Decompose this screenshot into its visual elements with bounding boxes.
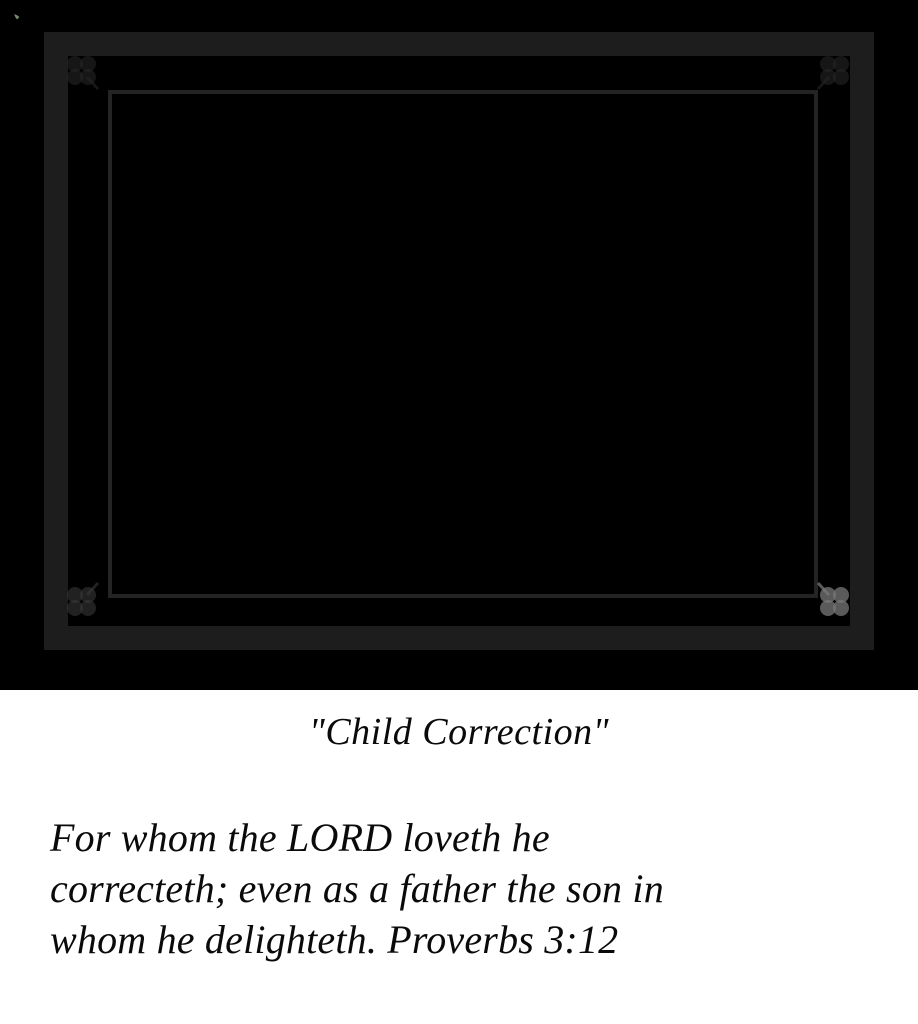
photo-card bbox=[0, 0, 918, 690]
photo-content bbox=[0, 0, 918, 690]
photograph bbox=[0, 0, 918, 690]
cone-shadow bbox=[0, 600, 918, 690]
verse-line: For whom the LORD loveth he bbox=[50, 812, 850, 863]
caption-area: "Child Correction" For whom the LORD lov… bbox=[0, 690, 918, 1024]
verse-text: For whom the LORD loveth he correcteth; … bbox=[50, 812, 850, 965]
page-root: "Child Correction" For whom the LORD lov… bbox=[0, 0, 918, 1024]
verse-line: correcteth; even as a father the son in bbox=[50, 863, 850, 914]
verse-line: whom he delighteth. Proverbs 3:12 bbox=[50, 914, 850, 965]
page-title: "Child Correction" bbox=[0, 708, 918, 756]
bird-highlight bbox=[445, 415, 515, 545]
